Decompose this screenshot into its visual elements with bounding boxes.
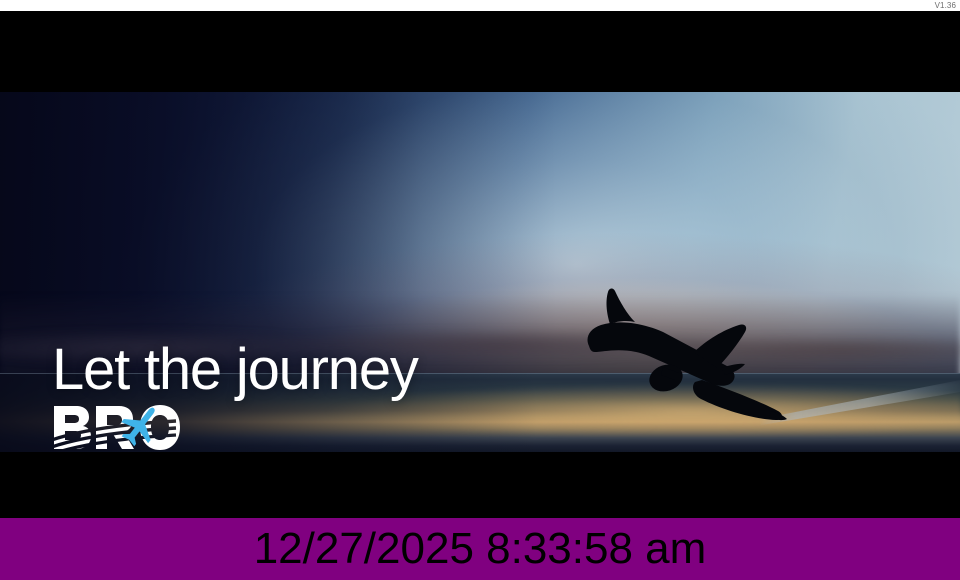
airplane-silhouette-icon xyxy=(575,280,810,445)
headline-line-1: Let the journey xyxy=(52,340,418,400)
datetime-display: 12/27/2025 8:33:58 am xyxy=(254,526,707,572)
bro-logo: Brownsville South Padre Island Internati… xyxy=(52,400,192,452)
letterbox-top xyxy=(0,11,960,92)
promo-banner: Let the journey take flightSM xyxy=(0,92,960,452)
version-bar: V1.36 xyxy=(0,0,960,11)
airport-display-screen: V1.36 xyxy=(0,0,960,580)
version-label: V1.36 xyxy=(935,1,960,10)
bro-wordmark-mark xyxy=(52,400,187,452)
clock-bar: 12/27/2025 8:33:58 am xyxy=(0,518,960,580)
letterbox-bottom xyxy=(0,452,960,518)
